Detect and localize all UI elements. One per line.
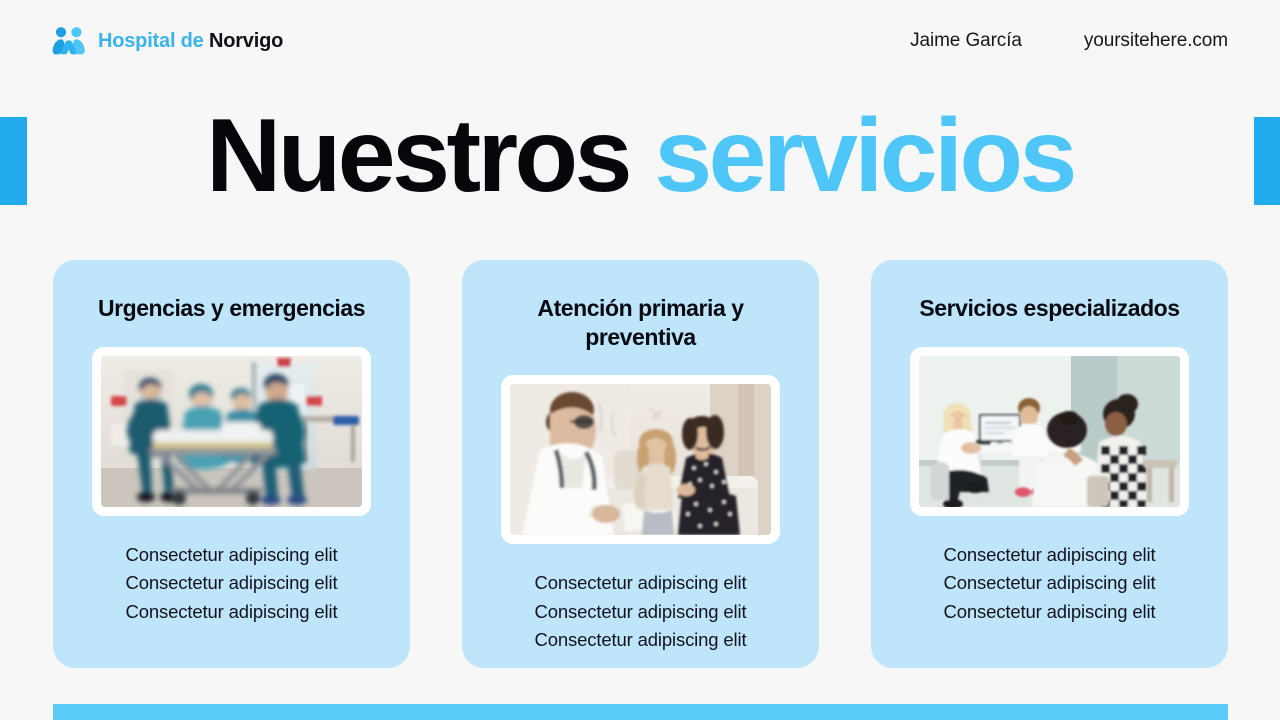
specialist-meeting-illustration [919, 356, 1180, 507]
list-item: Consectetur adipiscing elit [535, 627, 747, 653]
bottom-accent-bar [53, 704, 1228, 720]
brand-name-dark: Norvigo [209, 30, 283, 52]
card-title: Atención primaria y preventiva [491, 294, 791, 351]
list-item: Consectetur adipiscing elit [535, 570, 747, 596]
page-title-dark: Nuestros [206, 98, 629, 214]
two-people-icon [52, 26, 86, 56]
card-bullet-list: Consectetur adipiscing elit Consectetur … [126, 542, 338, 625]
list-item: Consectetur adipiscing elit [126, 599, 338, 625]
photo-emergency-room [101, 356, 362, 507]
page-title-blue: servicios [654, 98, 1074, 214]
service-card-atencion-primaria[interactable]: Atención primaria y preventiva [462, 260, 819, 668]
service-card-especializados[interactable]: Servicios especializados [871, 260, 1228, 668]
services-card-group: Urgencias y emergencias [53, 260, 1228, 668]
service-card-urgencias[interactable]: Urgencias y emergencias [53, 260, 410, 668]
card-photo-frame [92, 347, 371, 516]
brand-logo[interactable]: Hospital de Norvigo [52, 26, 283, 56]
website-link[interactable]: yoursitehere.com [1084, 30, 1228, 52]
card-photo-frame [910, 347, 1189, 516]
presenter-name[interactable]: Jaime García [910, 30, 1022, 52]
page-title: Nuestros servicios [0, 104, 1280, 208]
card-title: Servicios especializados [919, 294, 1179, 323]
family-consultation-illustration [510, 384, 771, 535]
photo-family-consultation [510, 384, 771, 535]
card-title: Urgencias y emergencias [98, 294, 365, 323]
card-bullet-list: Consectetur adipiscing elit Consectetur … [535, 570, 747, 653]
card-photo-frame [501, 375, 780, 544]
photo-specialist-meeting [919, 356, 1180, 507]
list-item: Consectetur adipiscing elit [944, 599, 1156, 625]
brand-name-light: Hospital de [98, 30, 204, 52]
list-item: Consectetur adipiscing elit [126, 542, 338, 568]
list-item: Consectetur adipiscing elit [535, 599, 747, 625]
list-item: Consectetur adipiscing elit [944, 542, 1156, 568]
header-links: Jaime García yoursitehere.com [910, 30, 1228, 52]
list-item: Consectetur adipiscing elit [126, 570, 338, 596]
page-header: Hospital de Norvigo Jaime García yoursit… [0, 0, 1280, 82]
list-item: Consectetur adipiscing elit [944, 570, 1156, 596]
page-title-wrap: Nuestros servicios [0, 104, 1280, 208]
slide-root: Hospital de Norvigo Jaime García yoursit… [0, 0, 1280, 720]
card-bullet-list: Consectetur adipiscing elit Consectetur … [944, 542, 1156, 625]
brand-name: Hospital de Norvigo [98, 30, 283, 53]
emergency-room-illustration [101, 356, 362, 507]
